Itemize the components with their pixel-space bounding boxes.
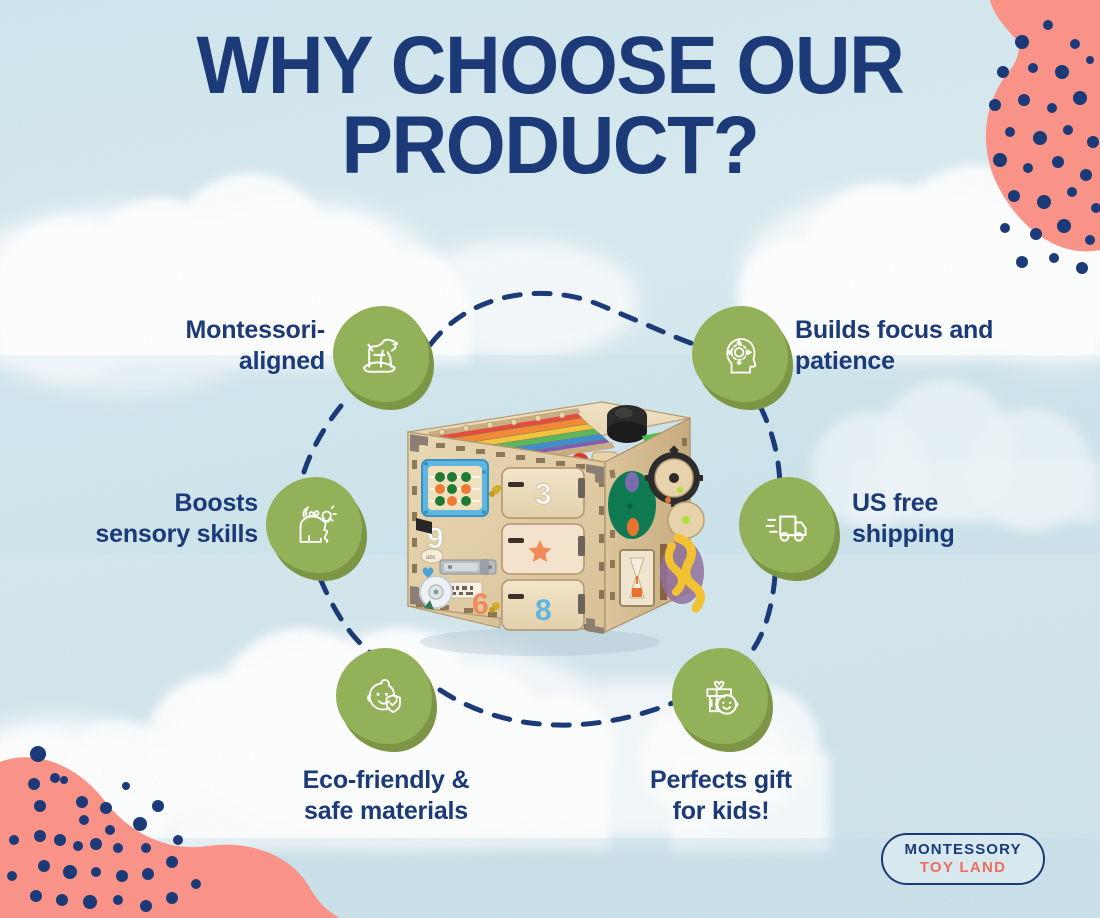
gift-baby-icon [672, 648, 768, 744]
delivery-truck-icon [739, 477, 835, 573]
feature-blob-gift[interactable] [672, 648, 768, 744]
feature-blob-sensory[interactable] [266, 477, 362, 573]
product-image: 9 abc [380, 360, 710, 660]
head-focus-icon [692, 306, 788, 402]
hourglass [620, 550, 654, 606]
svg-text:abc: abc [426, 555, 436, 561]
brand-logo-badge[interactable]: MONTESSORY TOY LAND [881, 833, 1045, 885]
feature-blob-shipping[interactable] [739, 477, 835, 573]
feature-blob-eco[interactable] [336, 648, 432, 744]
feature-label-shipping: US free shipping [852, 488, 1052, 549]
feature-blob-focus[interactable] [692, 306, 788, 402]
feature-blob-montessori[interactable] [333, 306, 429, 402]
feature-label-gift: Perfects gift for kids! [610, 765, 832, 826]
sliding-bolt-lock [440, 559, 496, 575]
logo-line-1: MONTESSORY [904, 842, 1021, 858]
poster-canvas: WHY CHOOSE OUR PRODUCT? [0, 0, 1100, 918]
cabinet-doors: 3 8 [489, 468, 585, 630]
busy-board-cube-illustration: 9 abc [380, 360, 710, 660]
baby-shield-icon [336, 648, 432, 744]
feature-label-sensory: Boosts sensory skills [72, 488, 258, 549]
svg-text:6: 6 [472, 588, 489, 621]
rocking-horse-icon [333, 306, 429, 402]
abacus [422, 460, 488, 516]
logo-line-2: TOY LAND [920, 859, 1007, 876]
head-creativity-icon [266, 477, 362, 573]
feature-label-focus: Builds focus and patience [795, 315, 1035, 376]
svg-text:3: 3 [535, 478, 552, 511]
svg-text:8: 8 [535, 594, 552, 627]
feature-label-eco: Eco-friendly & safe materials [270, 765, 502, 826]
feature-label-montessori: Montessori- aligned [130, 315, 325, 376]
